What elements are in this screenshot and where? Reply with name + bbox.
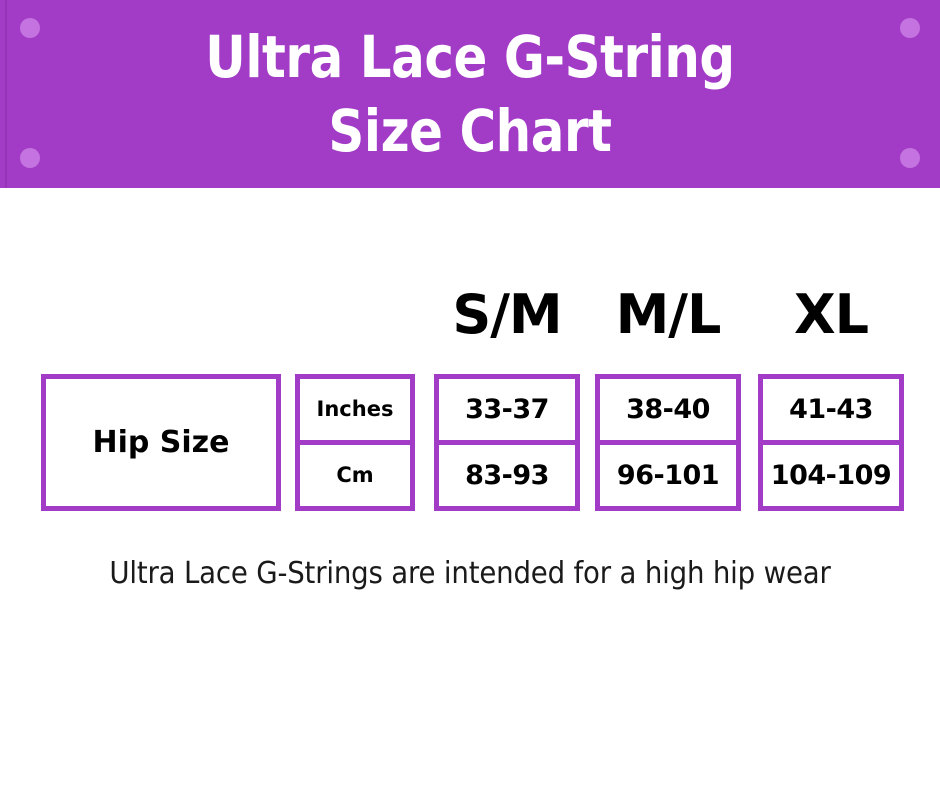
unit-label-inches: Inches xyxy=(317,399,394,420)
table-cell-hip-size: Hip Size xyxy=(41,374,281,511)
table-column-sm: 33-37 83-93 xyxy=(434,374,580,511)
size-header-ml: M/L xyxy=(595,282,741,348)
header-banner: Ultra Lace G-String Size Chart xyxy=(0,0,940,188)
value-xl-inches: 41-43 xyxy=(789,396,873,423)
table-column-xl: 41-43 104-109 xyxy=(758,374,904,511)
table-cell-sm-inches: 33-37 xyxy=(439,379,575,445)
banner-left-edge-stripe xyxy=(5,0,7,188)
value-sm-cm: 83-93 xyxy=(465,462,549,489)
hip-size-label: Hip Size xyxy=(92,425,229,460)
table-cell-xl-inches: 41-43 xyxy=(763,379,899,445)
corner-dot-top-right-icon xyxy=(900,18,920,38)
value-ml-inches: 38-40 xyxy=(626,396,710,423)
corner-dot-top-left-icon xyxy=(20,18,40,38)
page-title-line-1: Ultra Lace G-String xyxy=(205,28,734,86)
value-xl-cm: 104-109 xyxy=(771,462,891,489)
value-sm-inches: 33-37 xyxy=(465,396,549,423)
size-table: Hip Size Inches Cm 33-37 83-93 xyxy=(0,372,940,514)
page-title: Ultra Lace G-String Size Chart xyxy=(66,0,874,188)
size-chart-page: Ultra Lace G-String Size Chart S/M M/L X… xyxy=(0,0,940,788)
page-title-line-2: Size Chart xyxy=(328,102,611,160)
table-cell-ml-cm: 96-101 xyxy=(600,445,736,506)
table-cell-sm-cm: 83-93 xyxy=(439,445,575,506)
size-header-row: S/M M/L XL xyxy=(0,282,940,348)
table-cell-unit-cm: Cm xyxy=(300,445,410,506)
corner-dot-bottom-left-icon xyxy=(20,148,40,168)
footer-note: Ultra Lace G-Strings are intended for a … xyxy=(38,556,903,592)
unit-label-cm: Cm xyxy=(336,465,373,486)
value-ml-cm: 96-101 xyxy=(617,462,719,489)
table-column-units: Inches Cm xyxy=(295,374,415,511)
size-header-xl: XL xyxy=(758,282,904,348)
table-cell-ml-inches: 38-40 xyxy=(600,379,736,445)
table-cell-unit-inches: Inches xyxy=(300,379,410,445)
corner-dot-bottom-right-icon xyxy=(900,148,920,168)
size-header-sm: S/M xyxy=(434,282,580,348)
table-cell-xl-cm: 104-109 xyxy=(763,445,899,506)
table-column-ml: 38-40 96-101 xyxy=(595,374,741,511)
